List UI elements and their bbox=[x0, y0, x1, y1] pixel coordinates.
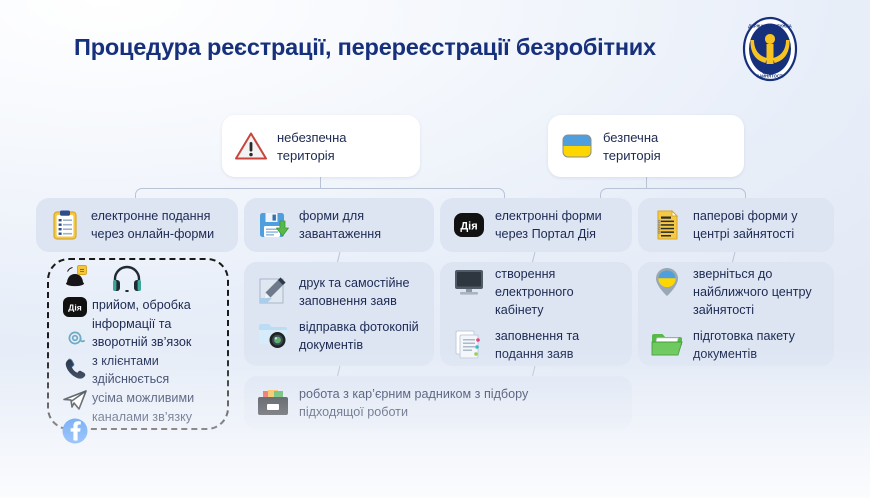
channel-online-forms-line2: через онлайн-форми bbox=[91, 225, 214, 243]
desktop-monitor-icon bbox=[452, 265, 486, 299]
branch-safe-line1: безпечна bbox=[603, 128, 661, 146]
branch-unsafe-line1: небезпечна bbox=[277, 128, 347, 146]
memo-pencil-icon bbox=[256, 274, 290, 308]
logo-bottom-text: ЗАЙНЯТОСТІ bbox=[756, 74, 783, 79]
step-create-cabinet-line2: електронного bbox=[495, 283, 574, 301]
documents-icon bbox=[452, 327, 486, 361]
svg-text:Дія: Дія bbox=[460, 221, 477, 233]
infographic-slide: Процедура реєстрації, перереєстрації без… bbox=[0, 0, 870, 498]
logo-top-text: ДЕРЖАВНА СЛУЖБА bbox=[748, 24, 792, 29]
branch-card-unsafe[interactable]: небезпечна територія bbox=[222, 115, 420, 177]
step-card-diia-portal[interactable]: створення електронного кабінету bbox=[440, 262, 632, 366]
step-create-cabinet-line3: кабінету bbox=[495, 301, 574, 319]
diia-app-icon: Дія bbox=[452, 208, 486, 242]
step-print-and-fill-line1: друк та самостійне bbox=[299, 274, 409, 292]
page-title: Процедура реєстрації, перереєстрації без… bbox=[74, 34, 656, 61]
diia-app-icon[interactable]: Дія bbox=[61, 293, 89, 321]
step-send-photocopies-line2: документів bbox=[299, 336, 419, 354]
green-folder-icon bbox=[650, 327, 684, 361]
step-visit-nearest-center-line1: зверніться до bbox=[693, 265, 812, 283]
channel-paper-forms-line1: паперові форми у bbox=[693, 207, 798, 225]
telegram-icon[interactable] bbox=[61, 386, 89, 414]
state-employment-service-logo: ДЕРЖАВНА СЛУЖБА ЗАЙНЯТОСТІ bbox=[735, 14, 805, 84]
clipboard-form-icon bbox=[48, 208, 82, 242]
step-fill-and-submit-line2: подання заяв bbox=[495, 345, 579, 363]
branch-safe-line2: територія bbox=[603, 146, 661, 164]
career-advisor-line2: підходящої роботи bbox=[299, 403, 528, 421]
career-advisor-line1: робота з кар’єрним радником з підбору bbox=[299, 385, 528, 403]
step-visit-nearest-center-line3: зайнятості bbox=[693, 301, 812, 319]
headphones-icon bbox=[110, 262, 144, 296]
step-fill-and-submit[interactable]: заповнення та подання заяв bbox=[452, 327, 620, 363]
channel-card-paper-forms[interactable]: паперові форми у центрі зайнятості bbox=[638, 198, 834, 252]
ukraine-map-pin-icon bbox=[650, 265, 684, 299]
step-visit-nearest-center-line2: найближчого центру bbox=[693, 283, 812, 301]
viber-bell-icon[interactable] bbox=[61, 262, 89, 290]
step-send-photocopies-line1: відправка фотокопій bbox=[299, 318, 419, 336]
communication-line6: усіма можливими bbox=[92, 389, 224, 408]
communication-line7: каналами зв’язку bbox=[92, 408, 224, 427]
communication-panel-text: прийом, обробка інформації та зворотній … bbox=[92, 296, 224, 426]
channel-card-download-forms[interactable]: форми для завантаження bbox=[244, 198, 434, 252]
card-index-box-icon bbox=[256, 386, 290, 420]
step-card-download-forms[interactable]: друк та самостійне заповнення заяв відпр… bbox=[244, 262, 434, 366]
warning-triangle-icon bbox=[234, 129, 268, 163]
step-visit-nearest-center[interactable]: зверніться до найближчого центру зайнято… bbox=[650, 265, 822, 319]
phone-icon[interactable] bbox=[61, 355, 89, 383]
floppy-download-icon bbox=[256, 208, 290, 242]
step-send-photocopies[interactable]: відправка фотокопій документів bbox=[256, 318, 422, 354]
step-prepare-documents-line2: документів bbox=[693, 345, 795, 363]
channel-download-forms-line2: завантаження bbox=[299, 225, 381, 243]
step-create-cabinet-line1: створення bbox=[495, 265, 574, 283]
branch-unsafe-line2: територія bbox=[277, 146, 347, 164]
communication-line3: зворотній зв’язок bbox=[92, 333, 224, 352]
step-print-and-fill[interactable]: друк та самостійне заповнення заяв bbox=[256, 274, 422, 310]
channel-download-forms-line1: форми для bbox=[299, 207, 381, 225]
branch-card-safe[interactable]: безпечна територія bbox=[548, 115, 744, 177]
channel-diia-portal-line1: електронні форми bbox=[495, 207, 602, 225]
communication-line4: з клієнтами bbox=[92, 352, 224, 371]
step-prepare-documents[interactable]: підготовка пакету документів bbox=[650, 327, 822, 363]
step-fill-and-submit-line1: заповнення та bbox=[495, 327, 579, 345]
ukraine-flag-icon bbox=[560, 129, 594, 163]
step-create-cabinet[interactable]: створення електронного кабінету bbox=[452, 265, 620, 319]
camera-folder-icon bbox=[256, 318, 290, 352]
email-at-icon[interactable] bbox=[61, 324, 89, 352]
communication-line2: інформації та bbox=[92, 315, 224, 334]
communication-line1: прийом, обробка bbox=[92, 296, 224, 315]
communication-line5: здійснюється bbox=[92, 370, 224, 389]
channel-card-diia-portal[interactable]: Дія електронні форми через Портал Дія bbox=[440, 198, 632, 252]
channel-diia-portal-line2: через Портал Дія bbox=[495, 225, 602, 243]
svg-text:Дія: Дія bbox=[68, 303, 81, 313]
channel-card-online-forms[interactable]: електронне подання через онлайн-форми bbox=[36, 198, 238, 252]
channel-online-forms-line1: електронне подання bbox=[91, 207, 214, 225]
channel-paper-forms-line2: центрі зайнятості bbox=[693, 225, 798, 243]
step-prepare-documents-line1: підготовка пакету bbox=[693, 327, 795, 345]
step-print-and-fill-line2: заповнення заяв bbox=[299, 292, 409, 310]
step-card-paper-forms[interactable]: зверніться до найближчого центру зайнято… bbox=[638, 262, 834, 366]
notepad-icon bbox=[650, 208, 684, 242]
facebook-icon[interactable] bbox=[61, 417, 89, 445]
career-advisor-card[interactable]: робота з кар’єрним радником з підбору пі… bbox=[244, 376, 632, 430]
communication-icon-column: Дія bbox=[55, 262, 95, 445]
